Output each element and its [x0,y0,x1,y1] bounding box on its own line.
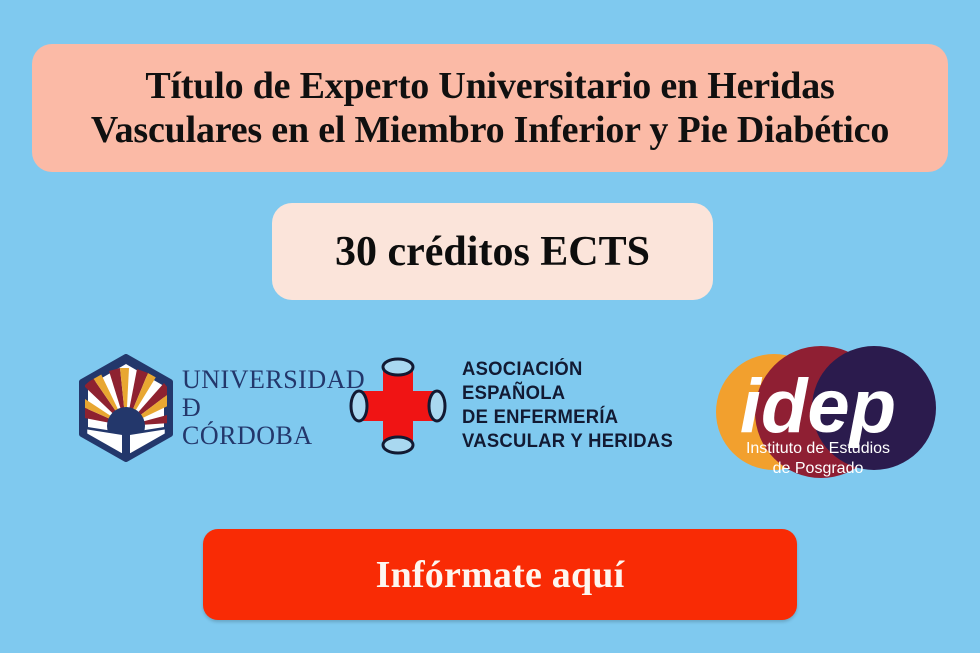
cordoba-wordmark: UNIVERSIDAD Ð CÓRDOBA [182,366,365,450]
idep-circles-icon: idep Instituto de Estudios de Posgrado [706,477,936,494]
title-banner: Título de Experto Universitario en Herid… [32,44,948,172]
cordoba-shield-icon [78,354,174,462]
informate-aqui-button[interactable]: Infórmate aquí [203,529,797,620]
idep-tagline-line2: de Posgrado [773,460,864,477]
idep-wordmark: idep [740,364,896,449]
credits-badge: 30 créditos ECTS [272,203,713,300]
logo-strip: UNIVERSIDAD Ð CÓRDOBA ASOCIACIÓN ESPAÑOL… [0,340,980,490]
logo-universidad-de-cordoba: UNIVERSIDAD Ð CÓRDOBA [78,354,365,462]
idep-tagline-line1: Instituto de Estudios [746,440,890,457]
aeevh-wordmark: ASOCIACIÓN ESPAÑOLA DE ENFERMERÍA VASCUL… [462,358,673,454]
promo-poster: Título de Experto Universitario en Herid… [0,0,980,653]
credits-badge-label: 30 créditos ECTS [335,228,650,276]
logo-aeevh: ASOCIACIÓN ESPAÑOLA DE ENFERMERÍA VASCUL… [348,356,680,456]
cta-button-label: Infórmate aquí [376,553,625,597]
vascular-cross-icon [348,356,448,456]
page-title: Título de Experto Universitario en Herid… [91,64,889,152]
logo-idep: idep Instituto de Estudios de Posgrado [706,340,936,495]
